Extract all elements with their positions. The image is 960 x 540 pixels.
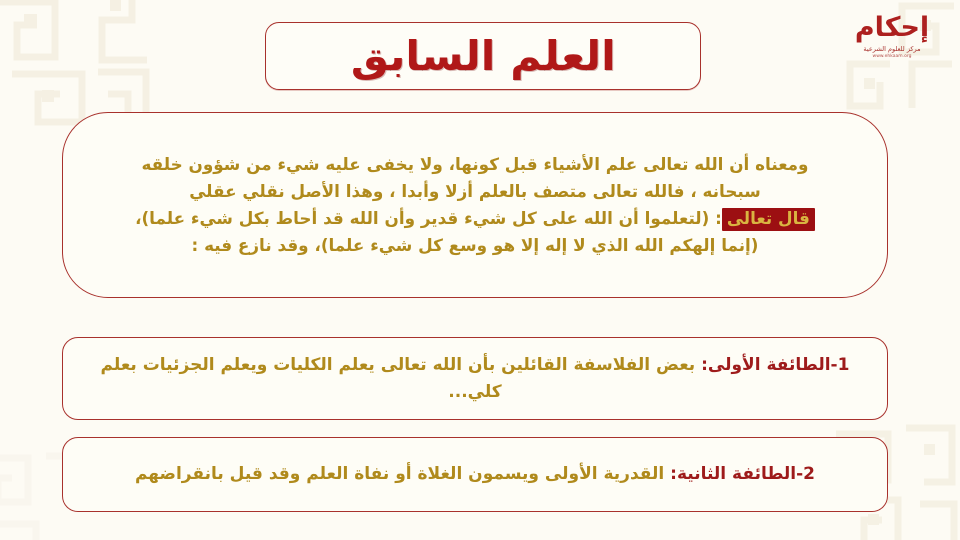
- slide-title-box: العلم السابق: [265, 22, 701, 90]
- group-first-text: 1-الطائفة الأولى: بعض الفلاسفة القائلين …: [85, 352, 865, 405]
- logo-subtitle: مركز للعلوم الشرعية: [863, 45, 920, 53]
- logo-wordmark: إحكام: [855, 14, 929, 41]
- definition-line-2: سبحانه ، فالله تعالى متصف بالعلم أزلا وأ…: [189, 181, 761, 201]
- slide-canvas: العلم السابق إحكام مركز للعلوم الشرعية w…: [0, 0, 960, 540]
- page-title: العلم السابق: [351, 36, 616, 77]
- logo-url: www.ehkaam.org: [873, 54, 912, 59]
- definition-text: ومعناه أن الله تعالى علم الأشياء قبل كون…: [89, 151, 861, 260]
- definition-line-4: (إنما إلهكم الله الذي لا إله إلا هو وسع …: [192, 235, 759, 255]
- group-second-label: 2-الطائفة الثانية:: [670, 464, 815, 484]
- quote-label-highlight: قال تعالى: [722, 208, 815, 231]
- definition-line-1: ومعناه أن الله تعالى علم الأشياء قبل كون…: [141, 154, 808, 174]
- group-second-body: القدرية الأولى ويسمون الغلاة أو نفاة الع…: [135, 464, 664, 484]
- group-card-second: 2-الطائفة الثانية: القدرية الأولى ويسمون…: [62, 437, 888, 512]
- group-second-text: 2-الطائفة الثانية: القدرية الأولى ويسمون…: [85, 461, 865, 487]
- brand-logo: إحكام مركز للعلوم الشرعية www.ehkaam.org: [836, 14, 948, 94]
- group-first-label: 1-الطائفة الأولى:: [701, 355, 849, 375]
- definition-card: ومعناه أن الله تعالى علم الأشياء قبل كون…: [62, 112, 888, 298]
- group-card-first: 1-الطائفة الأولى: بعض الفلاسفة القائلين …: [62, 337, 888, 420]
- definition-line-3: : (لتعلموا أن الله على كل شيء قدير وأن ا…: [135, 208, 722, 228]
- group-first-body: بعض الفلاسفة القائلين بأن الله تعالى يعل…: [101, 355, 696, 401]
